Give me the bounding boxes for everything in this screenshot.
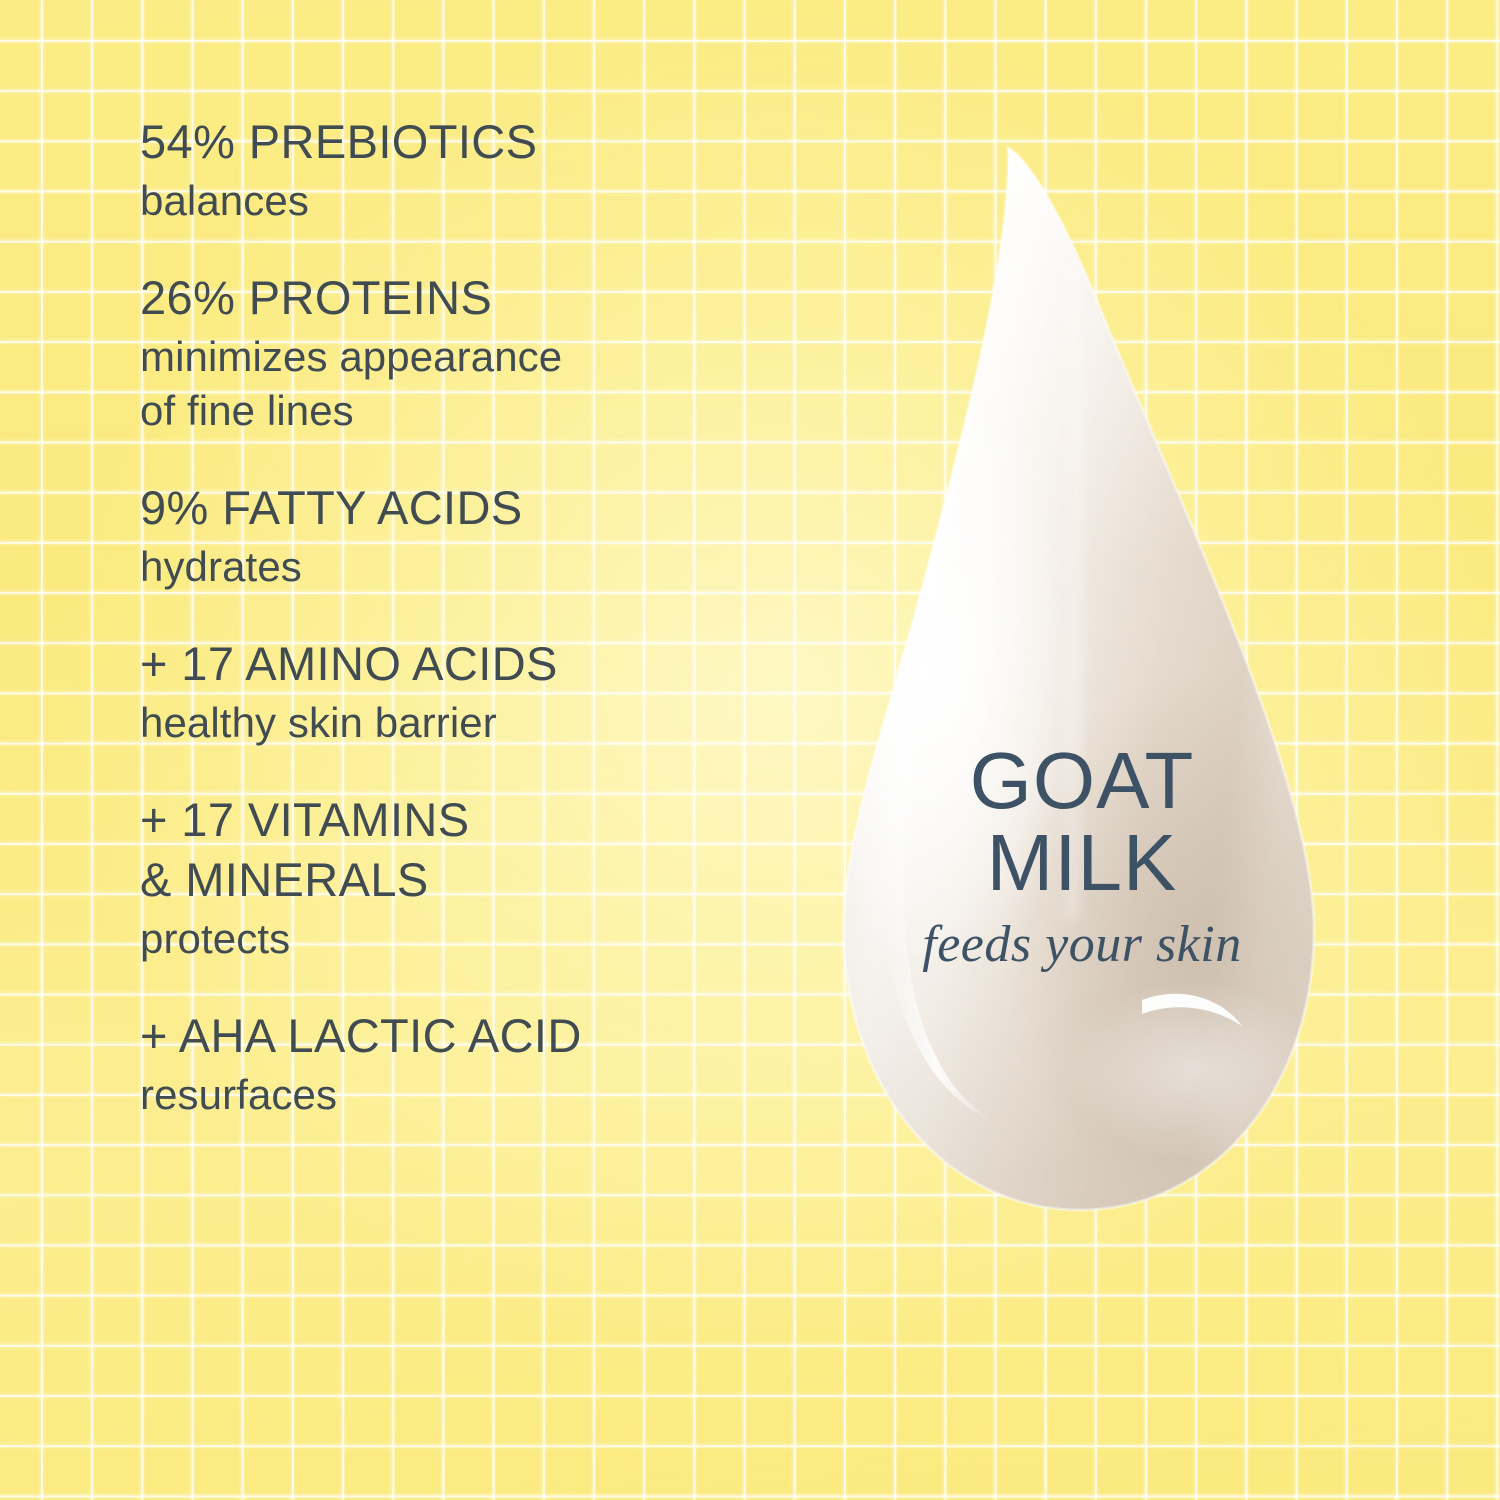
list-item: 26% PROTEINS minimizes appearance of fin… — [140, 268, 860, 438]
ingredient-headline: 26% PROTEINS — [140, 268, 860, 328]
product-ingredient-infographic: 54% PREBIOTICS balances 26% PROTEINS min… — [0, 0, 1500, 1500]
brand-name-line-1: GOAT — [842, 740, 1322, 822]
list-item: + 17 VITAMINS & MINERALS protects — [140, 790, 860, 966]
ingredient-headline: + AHA LACTIC ACID — [140, 1006, 860, 1066]
ingredient-benefit: minimizes appearance of fine lines — [140, 330, 860, 438]
ingredient-headline: 9% FATTY ACIDS — [140, 478, 860, 538]
ingredient-benefit: balances — [140, 174, 860, 228]
ingredient-benefit: healthy skin barrier — [140, 696, 860, 750]
ingredient-list: 54% PREBIOTICS balances 26% PROTEINS min… — [140, 112, 860, 1122]
ingredient-benefit: protects — [140, 912, 860, 966]
brand-tagline: feeds your skin — [842, 910, 1322, 980]
ingredient-headline: 54% PREBIOTICS — [140, 112, 860, 172]
ingredient-headline: + 17 AMINO ACIDS — [140, 634, 860, 694]
list-item: 54% PREBIOTICS balances — [140, 112, 860, 228]
brand-name-line-2: MILK — [842, 822, 1322, 904]
list-item: + 17 AMINO ACIDS healthy skin barrier — [140, 634, 860, 750]
ingredient-headline: + 17 VITAMINS & MINERALS — [140, 790, 860, 910]
droplet-brand-text: GOAT MILK feeds your skin — [842, 740, 1322, 980]
ingredient-benefit: hydrates — [140, 540, 860, 594]
list-item: 9% FATTY ACIDS hydrates — [140, 478, 860, 594]
ingredient-benefit: resurfaces — [140, 1068, 860, 1122]
list-item: + AHA LACTIC ACID resurfaces — [140, 1006, 860, 1122]
milk-droplet-icon — [842, 140, 1322, 1215]
